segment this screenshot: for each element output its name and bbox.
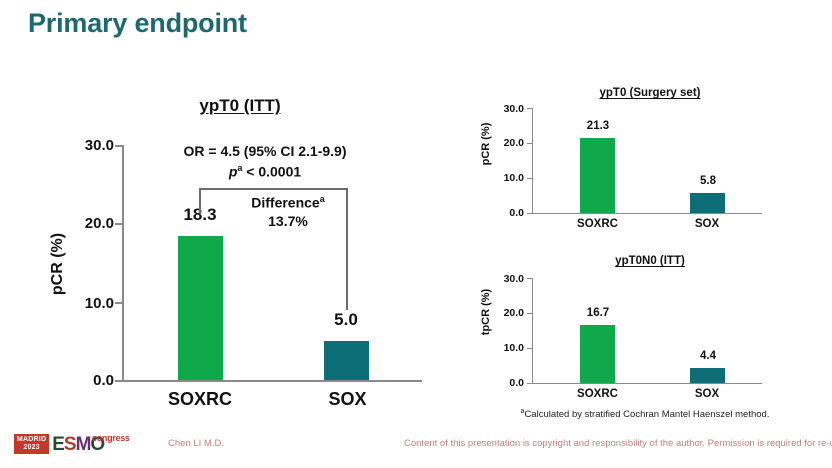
madrid-line-2: 2023 (17, 444, 46, 452)
chart-surgery-ytick-10: 10.0 (484, 172, 524, 184)
chart-ypt0-surgery-set: ypT0 (Surgery set) pCR (%) 30.0 20.0 10.… (460, 85, 832, 240)
difference-bracket-left-leg (199, 188, 201, 214)
chart-surgery-ytick-20: 20.0 (484, 137, 524, 149)
chart-ypt0n0-tick-0 (527, 383, 533, 384)
difference-word: Difference (251, 195, 319, 211)
chart-main-title: ypT0 (ITT) (120, 96, 360, 116)
chart-ypt0n0-title: ypT0N0 (ITT) (540, 255, 760, 267)
chart-main-ypt0-itt: ypT0 (ITT) pCR (%) 30.0 20.0 10.0 0.0 18… (0, 0, 460, 425)
p-superscript: a (237, 163, 242, 173)
slide-canvas: Primary endpoint ypT0 (ITT) pCR (%) 30.0… (0, 0, 832, 468)
esmo-letter-m: M (76, 434, 91, 455)
chart-main-category-sox: SOX (300, 389, 395, 410)
esmo-congress-logo: MADRID 2023 ESMO congress (14, 432, 104, 454)
chart-ypt0n0-tick-20 (527, 313, 533, 314)
chart-surgery-title: ypT0 (Surgery set) (540, 87, 760, 99)
annotation-odds-ratio: OR = 4.5 (95% CI 2.1-9.9) (140, 143, 390, 159)
p-value-text: < 0.0001 (246, 164, 301, 180)
esmo-letter-e: E (52, 434, 64, 455)
difference-bracket-top (199, 188, 347, 190)
chart-main-bar-soxrc (178, 236, 223, 380)
chart-main-bar-sox (324, 341, 369, 380)
chart-ypt0n0-value-sox: 4.4 (677, 350, 739, 362)
chart-main-tick-20 (115, 223, 123, 225)
chart-ypt0n0-ytick-20: 20.0 (484, 307, 524, 319)
chart-ypt0n0-y-axis (532, 278, 533, 384)
chart-ypt0n0-tick-10 (527, 348, 533, 349)
annotation-difference-label: Differencea (213, 194, 363, 211)
chart-surgery-category-soxrc: SOXRC (560, 218, 635, 230)
chart-ypt0n0-ytick-10: 10.0 (484, 342, 524, 354)
chart-main-ytick-20: 20.0 (52, 215, 114, 232)
chart-ypt0n0-ytick-30: 30.0 (484, 273, 524, 285)
chart-surgery-tick-0 (527, 213, 533, 214)
presenter-name: Chen LI M.D. (168, 438, 224, 449)
chart-surgery-y-axis (532, 108, 533, 214)
congress-wordmark: congress (92, 433, 130, 443)
chart-ypt0n0-bar-soxrc (580, 325, 615, 383)
chart-main-y-axis (122, 145, 124, 382)
chart-main-value-sox: 5.0 (306, 310, 386, 330)
annotation-p-value: pa < 0.0001 (140, 163, 390, 180)
chart-surgery-value-soxrc: 21.3 (567, 120, 629, 132)
esmo-letter-s: S (64, 434, 76, 455)
chart-main-category-soxrc: SOXRC (150, 389, 250, 410)
chart-ypt0n0-itt: ypT0N0 (ITT) tpCR (%) 30.0 20.0 10.0 0.0… (460, 253, 832, 408)
chart-surgery-category-sox: SOX (672, 218, 742, 230)
madrid-2023-badge: MADRID 2023 (14, 434, 49, 454)
chart-surgery-ytick-30: 30.0 (484, 103, 524, 115)
chart-main-ytick-30: 30.0 (52, 137, 114, 154)
chart-surgery-ytick-0: 0.0 (484, 207, 524, 219)
chart-main-tick-30 (115, 145, 123, 147)
chart-ypt0n0-ytick-0: 0.0 (484, 377, 524, 389)
footnote-text: Calculated by stratified Cochran Mantel … (524, 409, 769, 420)
chart-ypt0n0-value-soxrc: 16.7 (567, 307, 629, 319)
chart-main-x-axis (122, 380, 422, 382)
chart-main-ytick-0: 0.0 (52, 372, 114, 389)
chart-surgery-tick-20 (527, 143, 533, 144)
chart-surgery-bar-soxrc (580, 138, 615, 213)
chart-surgery-x-axis (532, 213, 762, 214)
footnote: aCalculated by stratified Cochran Mantel… (470, 408, 820, 420)
copyright-notice: Content of this presentation is copyrigh… (404, 438, 832, 449)
slide-footer: MADRID 2023 ESMO congress Chen LI M.D. C… (0, 428, 832, 468)
madrid-line-1: MADRID (17, 436, 46, 444)
chart-surgery-tick-30 (527, 108, 533, 109)
chart-main-tick-10 (115, 302, 123, 304)
chart-ypt0n0-tick-30 (527, 278, 533, 279)
chart-surgery-tick-10 (527, 178, 533, 179)
chart-ypt0n0-category-sox: SOX (672, 388, 742, 400)
difference-superscript: a (320, 194, 325, 204)
chart-ypt0n0-category-soxrc: SOXRC (560, 388, 635, 400)
chart-surgery-bar-sox (690, 193, 725, 213)
chart-ypt0n0-bar-sox (690, 368, 725, 383)
chart-main-tick-0 (115, 380, 123, 382)
annotation-difference-value: 13.7% (213, 213, 363, 229)
chart-surgery-value-sox: 5.8 (677, 175, 739, 187)
chart-main-ytick-10: 10.0 (52, 295, 114, 312)
chart-ypt0n0-x-axis (532, 383, 762, 384)
